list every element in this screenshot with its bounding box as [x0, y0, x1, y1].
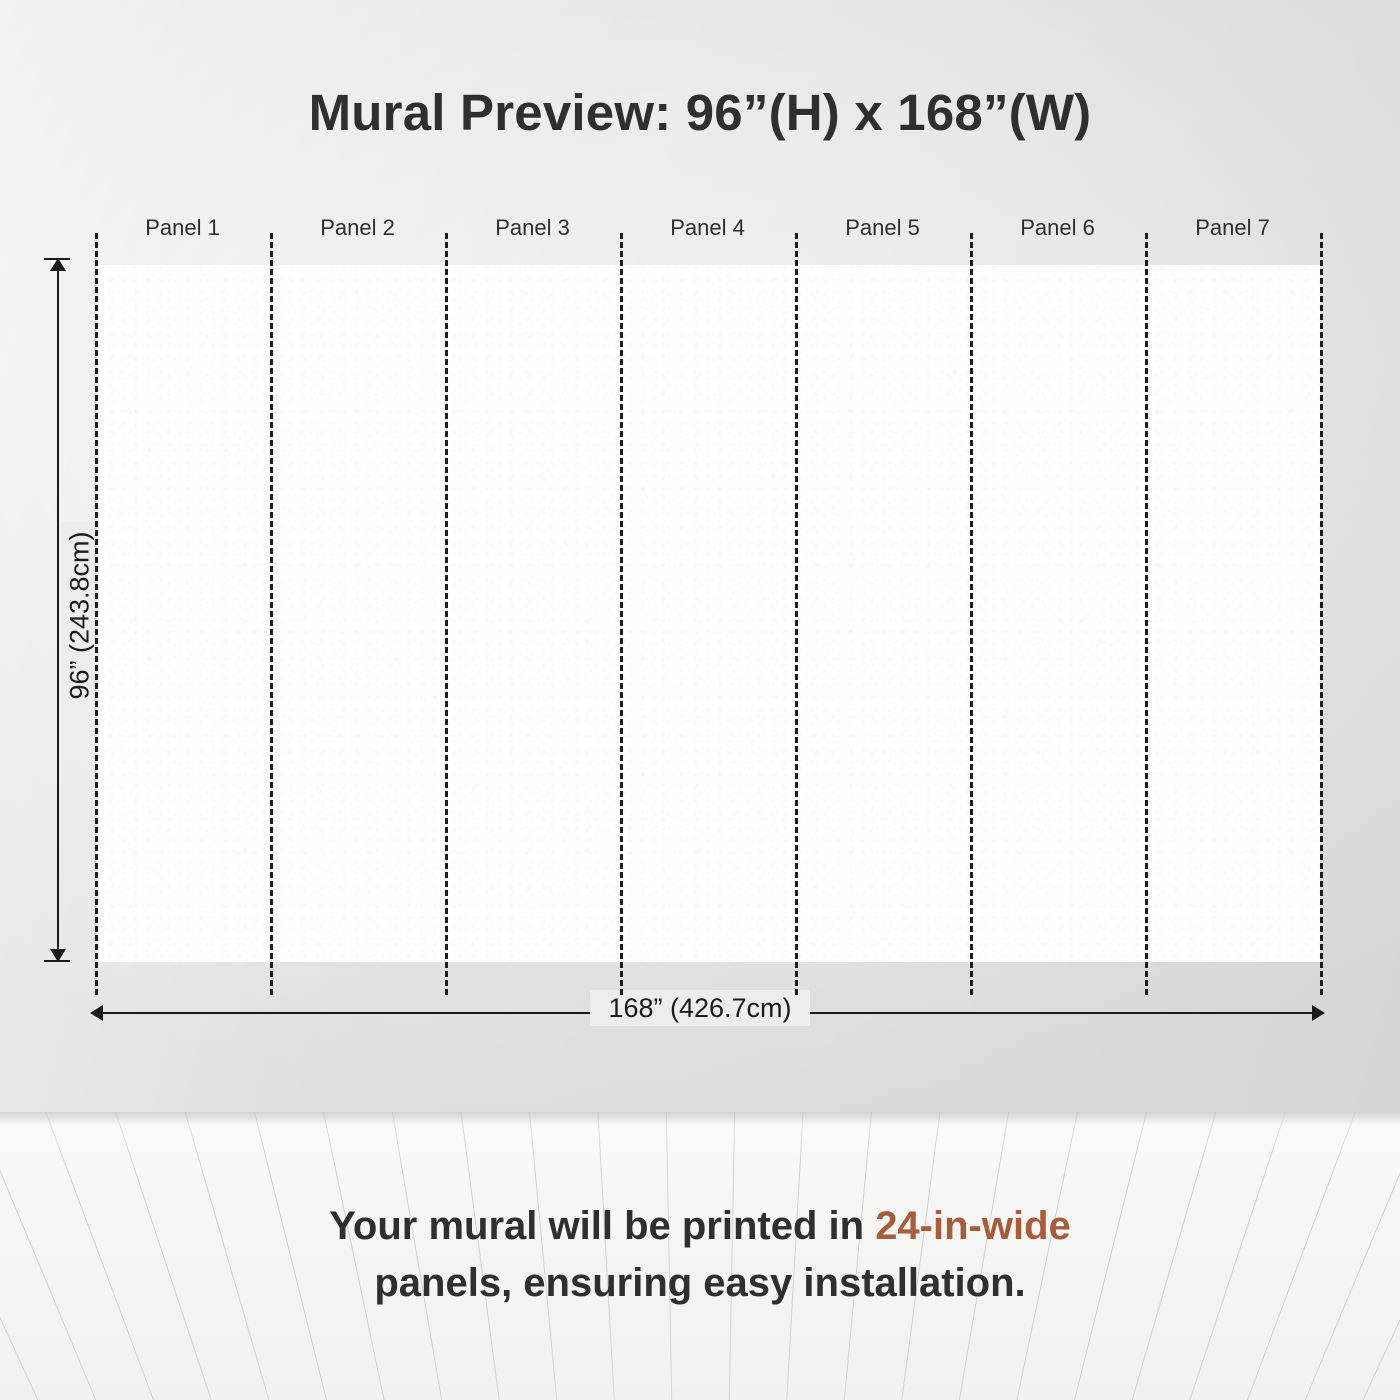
panel-label-2: Panel 2 [270, 215, 445, 249]
panel-divider-3 [620, 233, 623, 995]
panel-divider-4 [795, 233, 798, 995]
mural-preview[interactable]: 29XIIIIIIIIIVVVIVIIVIIIIXXXI3612 [95, 265, 1320, 962]
panel-divider-7 [1320, 233, 1323, 995]
panel-label-7: Panel 7 [1145, 215, 1320, 249]
sky-background [95, 265, 1320, 962]
panel-label-4: Panel 4 [620, 215, 795, 249]
caption-accent: 24-in-wide [875, 1204, 1071, 1248]
panel-divider-6 [1145, 233, 1148, 995]
panel-divider-0 [95, 233, 98, 995]
height-dimension-line [57, 265, 59, 962]
panel-label-6: Panel 6 [970, 215, 1145, 249]
panel-divider-2 [445, 233, 448, 995]
wall-floor-shadow [0, 1112, 1400, 1126]
caption-line1-prefix: Your mural will be printed in [329, 1204, 875, 1248]
panel-label-1: Panel 1 [95, 215, 270, 249]
panel-label-3: Panel 3 [445, 215, 620, 249]
caption-line2: panels, ensuring easy installation. [374, 1261, 1025, 1305]
page-title: Mural Preview: 96”(H) x 168”(W) [0, 83, 1400, 142]
panel-label-5: Panel 5 [795, 215, 970, 249]
mural-artwork: 29XIIIIIIIIIVVVIVIIVIIIIXXXI3612 [95, 265, 1320, 962]
panel-label-row: Panel 1Panel 2Panel 3Panel 4Panel 5Panel… [95, 215, 1320, 249]
height-dimension-label: 96” (243.8cm) [65, 486, 96, 746]
height-cap-top [44, 258, 70, 260]
panel-divider-1 [270, 233, 273, 995]
height-cap-bottom [44, 960, 70, 962]
width-dimension-label: 168” (426.7cm) [0, 993, 1400, 1024]
caption: Your mural will be printed in 24-in-wide… [0, 1198, 1400, 1312]
panel-divider-5 [970, 233, 973, 995]
